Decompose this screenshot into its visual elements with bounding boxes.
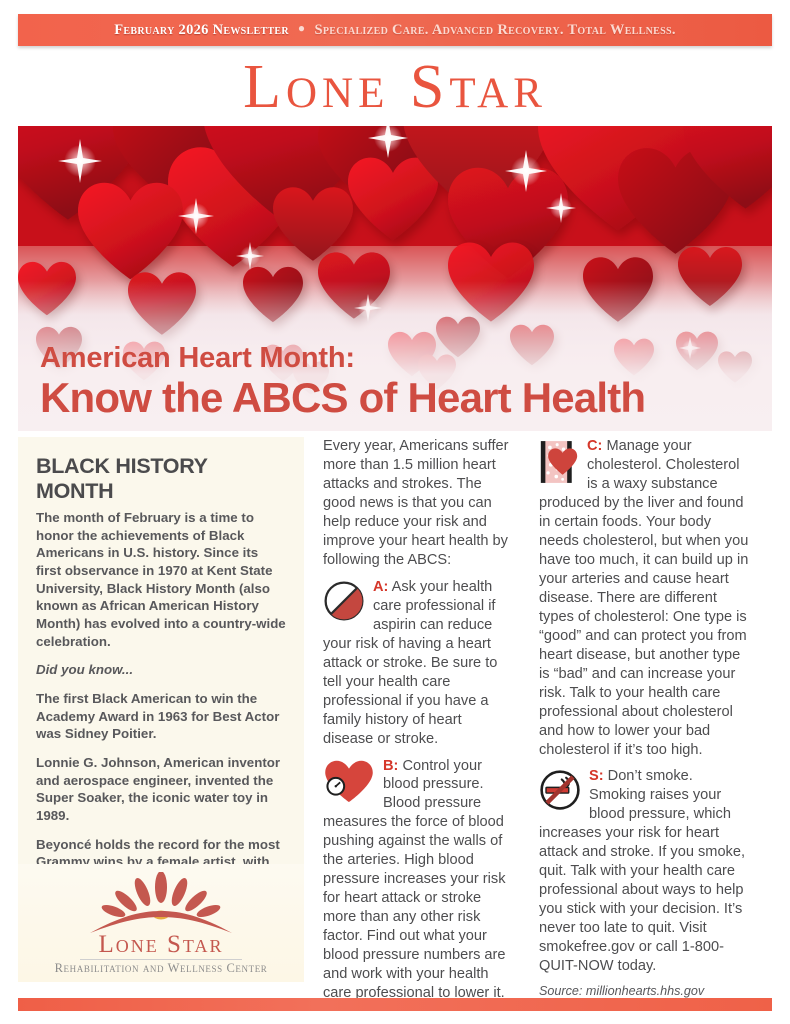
logo-divider bbox=[80, 959, 242, 960]
black-history-month-box: BLACK HISTORY MONTH The month of Februar… bbox=[18, 437, 304, 920]
sidebar-column: BLACK HISTORY MONTH The month of Februar… bbox=[18, 437, 304, 982]
sidebar-fact: Lonnie G. Johnson, American inventor and… bbox=[36, 754, 286, 825]
aspirin-pill-icon bbox=[323, 580, 365, 622]
abcs-letter-b: B: bbox=[383, 758, 398, 774]
bottom-accent-bar bbox=[18, 998, 772, 1011]
top-banner-text: February 2026 Newsletter ● Specialized C… bbox=[114, 22, 676, 39]
logo-name: Lone Star bbox=[99, 932, 224, 957]
hero-kicker: American Heart Month: bbox=[40, 343, 645, 374]
abcs-item-b: B: Control your blood pressure. Blood pr… bbox=[323, 757, 515, 1004]
abcs-letter-a: A: bbox=[373, 579, 388, 595]
artery-cholesterol-heart-icon bbox=[539, 439, 579, 485]
content-area: BLACK HISTORY MONTH The month of Februar… bbox=[18, 437, 772, 982]
heart-blood-pressure-gauge-icon bbox=[323, 759, 375, 803]
source-attribution: Source: millionhearts.hhs.gov bbox=[539, 984, 753, 998]
right-column: C: Manage your cholesterol. Cholesterol … bbox=[515, 437, 753, 982]
logo-panel: Lone Star Rehabilitation and Wellness Ce… bbox=[18, 864, 304, 982]
sidebar-fact: The first Black American to win the Acad… bbox=[36, 690, 286, 743]
hero-banner: American Heart Month: Know the ABCS of H… bbox=[18, 126, 772, 431]
sidebar-did-you-know: Did you know... bbox=[36, 661, 286, 679]
abcs-item-a: A: Ask your health care professional if … bbox=[323, 578, 515, 749]
abcs-letter-c: C: bbox=[587, 438, 602, 454]
masthead: Lone Star bbox=[0, 50, 790, 124]
hero-text-block: American Heart Month: Know the ABCS of H… bbox=[40, 343, 645, 422]
top-banner: February 2026 Newsletter ● Specialized C… bbox=[18, 14, 772, 46]
masthead-title: Lone Star bbox=[243, 56, 547, 118]
tagline-label: Specialized Care. Advanced Recovery. Tot… bbox=[314, 22, 675, 39]
abcs-letter-s: S: bbox=[589, 768, 604, 784]
abcs-item-c: C: Manage your cholesterol. Cholesterol … bbox=[539, 437, 753, 759]
newsletter-page: February 2026 Newsletter ● Specialized C… bbox=[0, 0, 790, 1024]
article-intro: Every year, Americans suffer more than 1… bbox=[323, 437, 515, 570]
abcs-text-c: Manage your cholesterol. Cholesterol is … bbox=[539, 438, 748, 758]
banner-separator-icon: ● bbox=[289, 21, 315, 36]
abcs-item-s: S: Don’t smoke. Smoking raises your bloo… bbox=[539, 767, 753, 976]
logo-subtitle: Rehabilitation and Wellness Center bbox=[55, 962, 268, 975]
issue-date-label: February 2026 Newsletter bbox=[114, 22, 289, 39]
sidebar-intro: The month of February is a time to honor… bbox=[36, 509, 286, 650]
no-smoking-icon bbox=[539, 769, 581, 811]
sidebar-title: BLACK HISTORY MONTH bbox=[36, 454, 286, 504]
hero-headline: Know the ABCS of Heart Health bbox=[40, 375, 645, 421]
middle-column: Every year, Americans suffer more than 1… bbox=[304, 437, 515, 982]
lotus-flower-logo-icon bbox=[86, 872, 236, 934]
